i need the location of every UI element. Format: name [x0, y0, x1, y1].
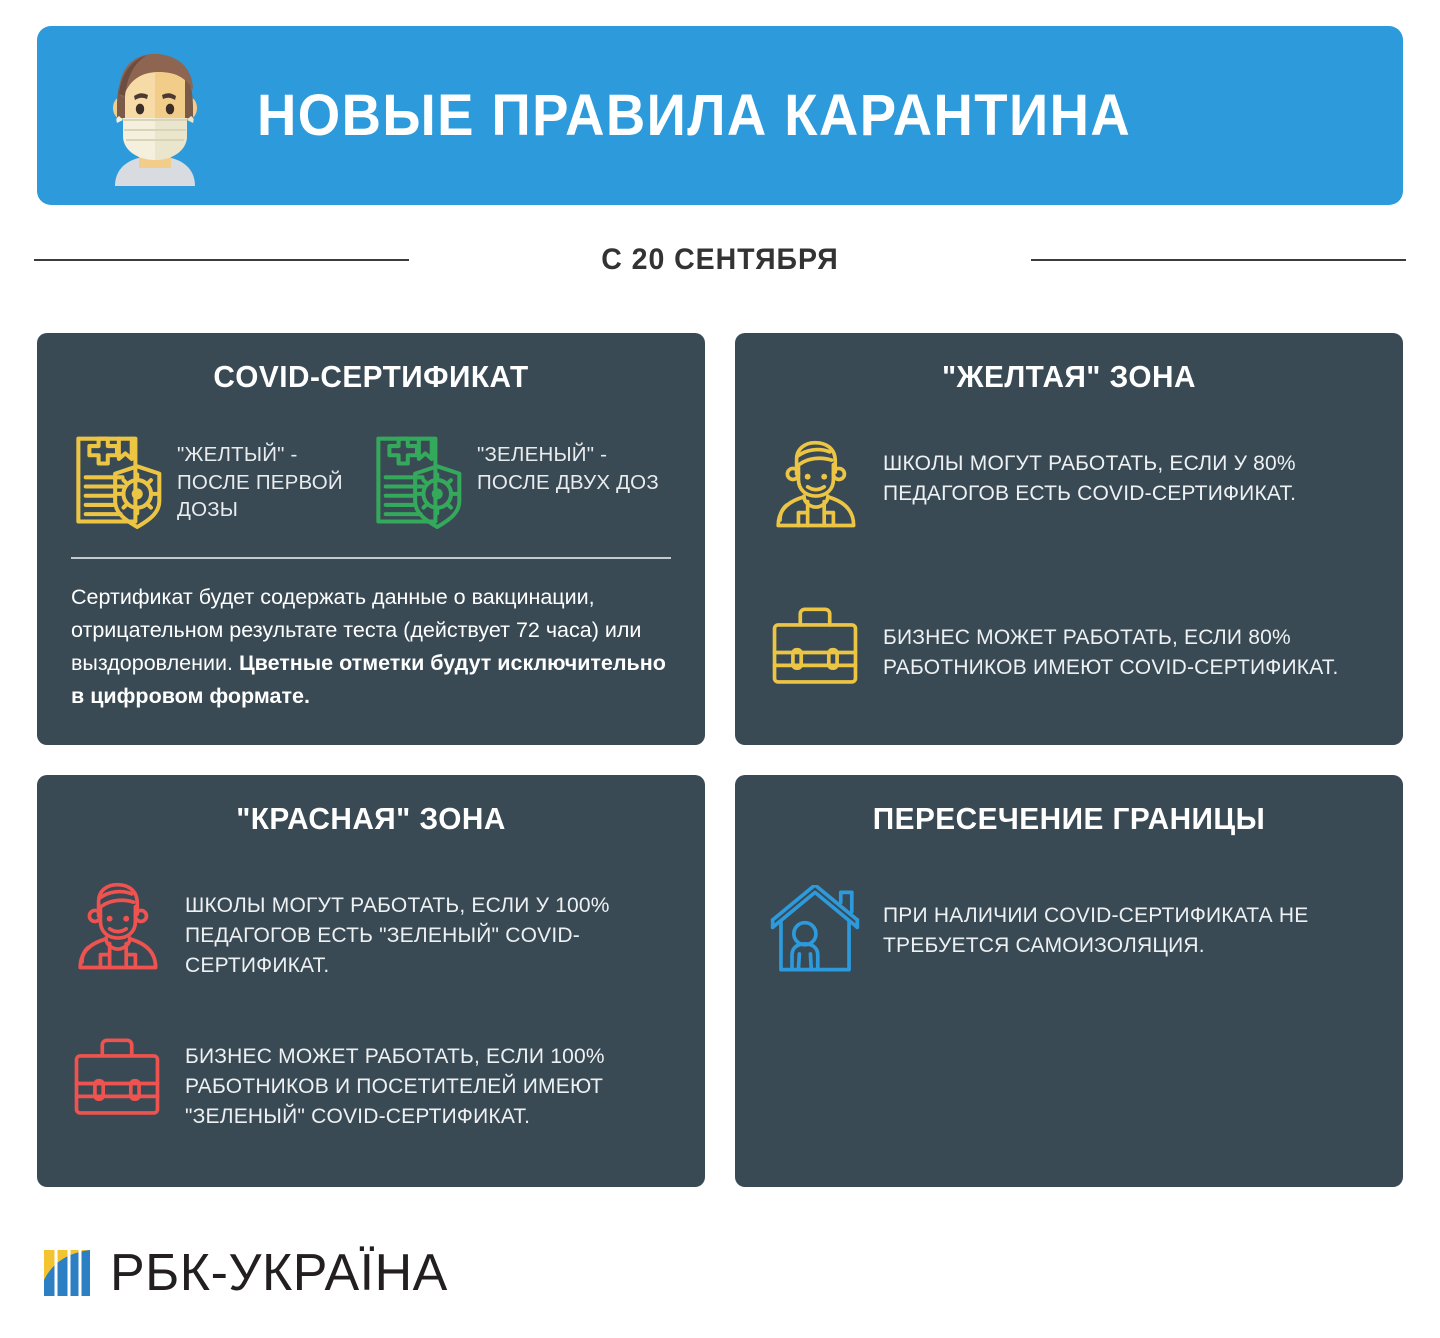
subtitle-row: С 20 СЕНТЯБРЯ [37, 232, 1403, 288]
certificate-green: "ЗЕЛЕНЫЙ" - ПОСЛЕ ДВУХ ДОЗ [371, 433, 671, 529]
page-title: НОВЫЕ ПРАВИЛА КАРАНТИНА [257, 82, 1131, 149]
card-title: ПЕРЕСЕЧЕНИЕ ГРАНИЦЫ [781, 801, 1357, 837]
bullet-schools-red: ШКОЛЫ МОГУТ РАБОТАТЬ, ЕСЛИ У 100% ПЕДАГО… [71, 881, 671, 980]
rbc-bars-logo-icon [44, 1250, 90, 1296]
bullet-business-red: БИЗНЕС МОЖЕТ РАБОТАТЬ, ЕСЛИ 100% РАБОТНИ… [71, 1032, 671, 1131]
rule-left [34, 259, 409, 261]
card-title: "ЖЕЛТАЯ" ЗОНА [781, 359, 1357, 395]
certificate-yellow: "ЖЕЛТЫЙ" - ПОСЛЕ ПЕРВОЙ ДОЗЫ [71, 433, 371, 529]
card-border-crossing: ПЕРЕСЕЧЕНИЕ ГРАНИЦЫ ПРИ НАЛИЧИИ COVID-СЕ [735, 775, 1403, 1187]
card-covid-certificate: COVID-СЕРТИФИКАТ [37, 333, 705, 745]
bullet-text: ШКОЛЫ МОГУТ РАБОТАТЬ, ЕСЛИ У 80% ПЕДАГОГ… [883, 439, 1369, 509]
bullet-text: ШКОЛЫ МОГУТ РАБОТАТЬ, ЕСЛИ У 100% ПЕДАГО… [185, 881, 671, 980]
infographic-page: НОВЫЕ ПРАВИЛА КАРАНТИНА С 20 СЕНТЯБРЯ CO… [0, 0, 1440, 1338]
card-title: COVID-СЕРТИФИКАТ [83, 359, 659, 395]
brand-name: РБК-УКРАЇНА [110, 1243, 448, 1303]
header-banner: НОВЫЕ ПРАВИЛА КАРАНТИНА [37, 26, 1403, 205]
house-person-icon [769, 885, 861, 977]
certificate-yellow-icon [71, 433, 163, 529]
briefcase-icon [769, 601, 861, 693]
card-title: "КРАСНАЯ" ЗОНА [83, 801, 659, 837]
card-divider [71, 557, 671, 559]
card-red-zone: "КРАСНАЯ" ЗОНА [37, 775, 705, 1187]
briefcase-icon [71, 1032, 163, 1124]
certificate-note: Сертификат будет содержать данные о вакц… [71, 581, 671, 714]
certificate-green-label: "ЗЕЛЕНЫЙ" - ПОСЛЕ ДВУХ ДОЗ [477, 441, 671, 496]
certificate-row: "ЖЕЛТЫЙ" - ПОСЛЕ ПЕРВОЙ ДОЗЫ [71, 433, 671, 529]
bullet-business-yellow: БИЗНЕС МОЖЕТ РАБОТАТЬ, ЕСЛИ 80% РАБОТНИК… [769, 601, 1369, 693]
bullet-schools-yellow: ШКОЛЫ МОГУТ РАБОТАТЬ, ЕСЛИ У 80% ПЕДАГОГ… [769, 439, 1369, 531]
masked-person-avatar-icon [93, 46, 217, 186]
card-yellow-zone: "ЖЕЛТАЯ" ЗОНА [735, 333, 1403, 745]
bullet-text: ПРИ НАЛИЧИИ COVID-СЕРТИФИКАТА НЕ ТРЕБУЕТ… [883, 885, 1369, 961]
teacher-person-icon [71, 881, 163, 973]
teacher-person-icon [769, 439, 861, 531]
footer-logo: РБК-УКРАЇНА [44, 1243, 448, 1303]
certificate-yellow-label: "ЖЕЛТЫЙ" - ПОСЛЕ ПЕРВОЙ ДОЗЫ [177, 441, 371, 524]
subtitle-text: С 20 СЕНТЯБРЯ [601, 243, 838, 277]
bullet-border: ПРИ НАЛИЧИИ COVID-СЕРТИФИКАТА НЕ ТРЕБУЕТ… [769, 885, 1369, 977]
rule-right [1031, 259, 1406, 261]
bullet-text: БИЗНЕС МОЖЕТ РАБОТАТЬ, ЕСЛИ 80% РАБОТНИК… [883, 601, 1369, 683]
card-grid: COVID-СЕРТИФИКАТ [37, 333, 1403, 1187]
bullet-text: БИЗНЕС МОЖЕТ РАБОТАТЬ, ЕСЛИ 100% РАБОТНИ… [185, 1032, 671, 1131]
certificate-green-icon [371, 433, 463, 529]
